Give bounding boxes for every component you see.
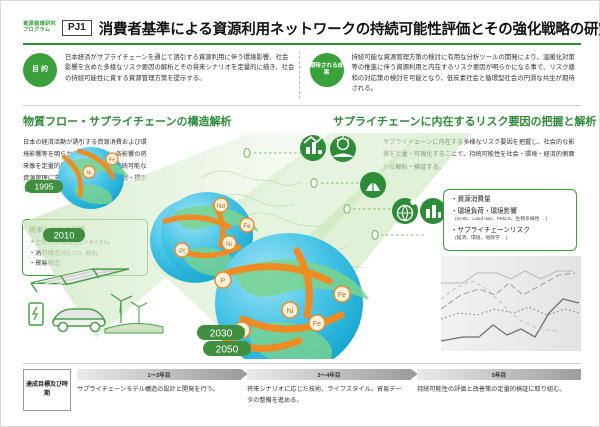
scenario-item-label: ・貿易構造	[29, 260, 60, 267]
timeline-phase-2: 3〜4年目 将来シナリオに応じた技術、ライフスタイル、貿易データの整備を進める。	[241, 369, 411, 411]
svg-text:Ni: Ni	[226, 241, 232, 248]
svg-text:Pt: Pt	[239, 328, 246, 335]
risk-item-label: ・資源消費量	[451, 196, 491, 203]
map-texture	[201, 171, 367, 283]
trend-chart-graphic	[441, 256, 581, 351]
program-logo: 資源循環研究 プログラム	[23, 22, 56, 34]
timeline: 達成目標及び時期 1〜2年目 サプライチェーンモデル構造の設計と開発を行う。 3…	[23, 369, 581, 411]
forest-icon	[360, 172, 386, 198]
risk-item: ・サプライチェーンリスク (経済、環境、地政学 …)	[451, 226, 569, 243]
svg-text:2030: 2030	[210, 329, 233, 340]
scenario-item: ・生産技術構造(含むリサイクル)	[29, 238, 141, 249]
risk-item-label: ・サプライチェーンリスク	[451, 227, 530, 234]
svg-text:Fe: Fe	[338, 292, 346, 299]
year-pill-2030: 2030	[197, 325, 245, 340]
svg-text:2050: 2050	[216, 345, 239, 356]
svg-text:Fe: Fe	[243, 223, 251, 230]
section-heading-left: 物質フロー・サプライチェーンの構造解析	[23, 113, 231, 129]
section-heading-right: サプライチェーンに内在するリスク要因の把握と解析	[333, 113, 596, 129]
globe-2030-2050: P Fe Ni Fe Pt 2030 2050	[197, 233, 369, 359]
growth-chart-icon	[300, 134, 326, 161]
poster-root: 資源循環研究 プログラム PJ1 消費者基準による資源利用ネットワークの持続可能…	[0, 0, 600, 427]
element-badge-group-2030: P Fe Ni Fe Pt	[215, 272, 350, 338]
purpose-circle-label: 目 的	[23, 53, 57, 87]
page-title: 消費者基準による資源利用ネットワークの持続可能性評価とその強化戦略の研究	[99, 18, 600, 39]
timeline-phase-text: 持続可能性の評価と改善策の定量的検証に取り組む。	[417, 380, 581, 396]
risk-item-label: ・環境負荷・環境影響	[451, 208, 517, 215]
risk-item-sub: (GHG、Land use、PM2.5、生物多様性 …)	[451, 217, 569, 224]
program-logo-line2: プログラム	[23, 28, 56, 34]
project-badge: PJ1	[62, 20, 92, 37]
risk-items-box: ・資源消費量 ・環境負荷・環境影響 (GHG、Land use、PM2.5、生物…	[443, 189, 577, 251]
svg-text:P: P	[221, 278, 226, 285]
energy-illustration	[29, 269, 163, 333]
summary-row: 目 的 日本経済がサプライチェーンを通じて誘引する資源利用に伴う環境影響、社会影…	[23, 49, 581, 101]
flow-arrows-2030	[225, 251, 341, 349]
outcome-block: 期待される成果 持続可能な資源管理方策の検討に有用な分析ツールの開発により、温暖…	[310, 49, 582, 101]
scenario-item-sub: (含む人口、経済)	[60, 252, 98, 257]
scenario-item: ・貿易構造	[29, 259, 141, 270]
svg-text:Nd: Nd	[217, 203, 225, 210]
wind-turbine-icon	[105, 294, 163, 333]
timeline-phase-text: 将来シナリオに応じた技術、ライフスタイル、貿易データの整備を進める。	[247, 380, 411, 407]
outcome-text: 持続可能な資源管理方策の検討に有用な分析ツールの開発により、温暖化対策等の推進に…	[352, 53, 582, 95]
svg-text:Pt: Pt	[179, 248, 185, 255]
purpose-text: 日本経済がサプライチェーンを通じて誘引する資源利用に伴う環境影響、社会影響を含め…	[65, 53, 295, 84]
timeline-phase-text: サプライチェーンモデル構造の設計と開発を行う。	[77, 380, 241, 396]
left-lead-text: 日本の経済活動が誘引する資源消費および環境影響等を明らかにすると共に、各影響の将…	[23, 137, 147, 197]
risk-item-sub: (経済、環境、地政学 …)	[451, 236, 569, 243]
timeline-phase-3: 5年目 持続可能性の評価と改善策の定量的検証に取り組む。	[411, 369, 581, 411]
purpose-block: 目 的 日本経済がサプライチェーンを通じて誘引する資源利用に伴う環境影響、社会影…	[23, 49, 295, 101]
element-badge-group-2010: Nd Fe Ni Pt	[175, 198, 254, 257]
timeline-divider	[23, 363, 581, 364]
svg-text:Ni: Ni	[287, 308, 294, 315]
globe-leaf-icon	[392, 198, 418, 224]
risk-item: ・資源消費量	[451, 195, 569, 205]
summary-divider	[299, 51, 301, 99]
outcome-circle-label: 期待される成果	[310, 53, 344, 87]
scenario-item-label: ・生産技術構造	[29, 239, 72, 246]
connector-nodes	[244, 149, 378, 240]
scenario-item: ・消費構造(含む人口、経済)	[29, 249, 141, 260]
timeline-period-bar: 3〜4年目	[247, 369, 411, 380]
poster-header: 資源循環研究 プログラム PJ1 消費者基準による資源利用ネットワークの持続可能…	[23, 13, 581, 43]
scenario-box-title: 将来シナリオ分析	[29, 225, 141, 235]
ecosystem-icon	[330, 136, 356, 162]
timeline-phase-1: 1〜2年目 サプライチェーンモデル構造の設計と開発を行う。	[71, 369, 241, 411]
timeline-period-bar: 1〜2年目	[77, 369, 241, 380]
scenario-item-label: ・消費構造	[29, 250, 60, 257]
risk-item: ・環境負荷・環境影響 (GHG、Land use、PM2.5、生物多様性 …)	[451, 207, 569, 224]
year-pill-2050: 2050	[203, 341, 251, 356]
right-lead-text: サプライチェーンに内在する多様なリスク要因を把握し、社会的な影響を定量・可視化す…	[383, 137, 579, 174]
header-divider	[23, 43, 581, 45]
summary-bottom-divider	[23, 105, 581, 106]
scenario-analysis-box: 将来シナリオ分析 ・生産技術構造(含むリサイクル) ・消費構造(含む人口、経済)…	[22, 219, 148, 276]
electric-car-icon	[53, 309, 105, 332]
ev-charger-icon	[29, 303, 43, 325]
svg-text:Fe: Fe	[313, 321, 321, 328]
scenario-item-sub: (含むリサイクル)	[72, 241, 109, 246]
flow-arrows-2010	[165, 205, 239, 256]
timeline-label: 達成目標及び時期	[23, 369, 71, 411]
timeline-period-bar: 5年目	[417, 369, 581, 380]
